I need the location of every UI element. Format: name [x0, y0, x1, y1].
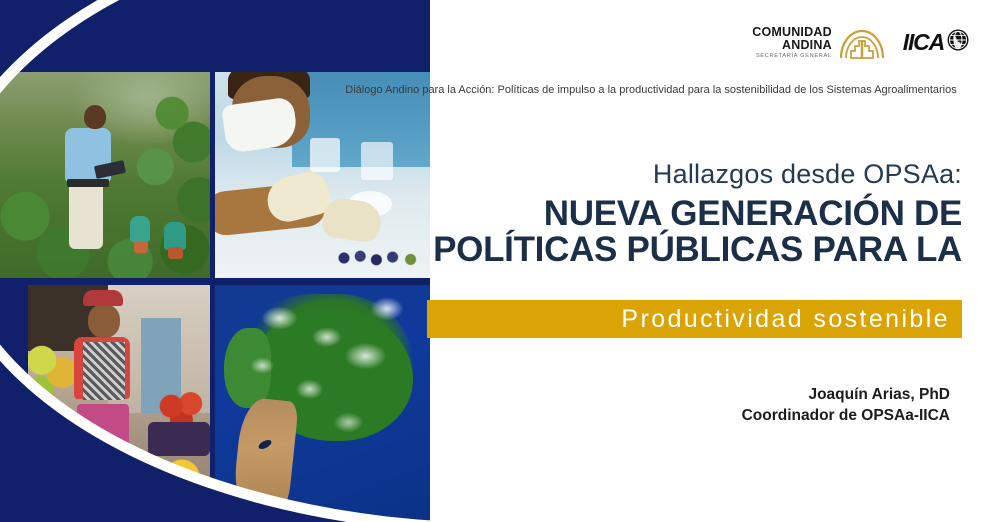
comunidad-andina-wordmark: COMUNIDAD ANDINA SECRETARÍA GENERAL	[752, 26, 832, 59]
ca-line-3: SECRETARÍA GENERAL	[752, 54, 832, 60]
harvest-basket-two	[168, 247, 183, 259]
photo-market-vendor	[28, 285, 210, 522]
title-kicker: Hallazgos desde OPSAa:	[342, 160, 962, 190]
vendor-hat	[83, 290, 123, 306]
presentation-slide: COMUNIDAD ANDINA SECRETARÍA GENERAL IICA	[0, 0, 1000, 522]
highlight-band-text: Productividad sostenible	[427, 300, 962, 338]
title-block: Hallazgos desde OPSAa: NUEVA GENERACIÓN …	[342, 160, 962, 268]
event-subtitle: Diálogo Andino para la Acción: Políticas…	[336, 84, 966, 96]
photo-satellite-south-america	[215, 285, 430, 522]
header-logos: COMUNIDAD ANDINA SECRETARÍA GENERAL IICA	[752, 26, 970, 59]
iica-wordmark: IICA	[903, 29, 944, 56]
farmer-legs	[69, 183, 103, 249]
harvest-basket-one	[134, 241, 148, 253]
author-role: Coordinador de OPSAa-IICA	[742, 406, 950, 427]
field-worker-one	[130, 216, 150, 242]
globe-icon	[946, 28, 970, 57]
comunidad-andina-logo: COMUNIDAD ANDINA SECRETARÍA GENERAL	[752, 26, 885, 59]
lab-jar-one	[310, 138, 340, 172]
headline-line-2: POLÍTICAS PÚBLICAS PARA LA	[342, 232, 962, 268]
author-name: Joaquín Arias, PhD	[742, 385, 950, 406]
vendor-sweater	[83, 342, 125, 400]
fruit-pile	[83, 456, 210, 522]
author-block: Joaquín Arias, PhD Coordinador de OPSAa-…	[742, 385, 950, 427]
grape-pile	[148, 422, 210, 455]
vendor-skirt	[77, 404, 129, 462]
photo-farmer-phone	[0, 72, 210, 278]
title-headline: NUEVA GENERACIÓN DE POLÍTICAS PÚBLICAS P…	[342, 196, 962, 269]
farmer-belt	[67, 179, 109, 187]
iica-logo: IICA	[903, 28, 970, 57]
vendor-head	[88, 304, 120, 338]
farmer-head	[84, 105, 106, 129]
headline-line-1: NUEVA GENERACIÓN DE	[342, 196, 962, 232]
cloud-layer	[215, 285, 430, 522]
ca-line-1: COMUNIDAD	[752, 26, 832, 39]
andean-arch-icon	[839, 27, 885, 59]
ca-line-2: ANDINA	[752, 39, 832, 52]
